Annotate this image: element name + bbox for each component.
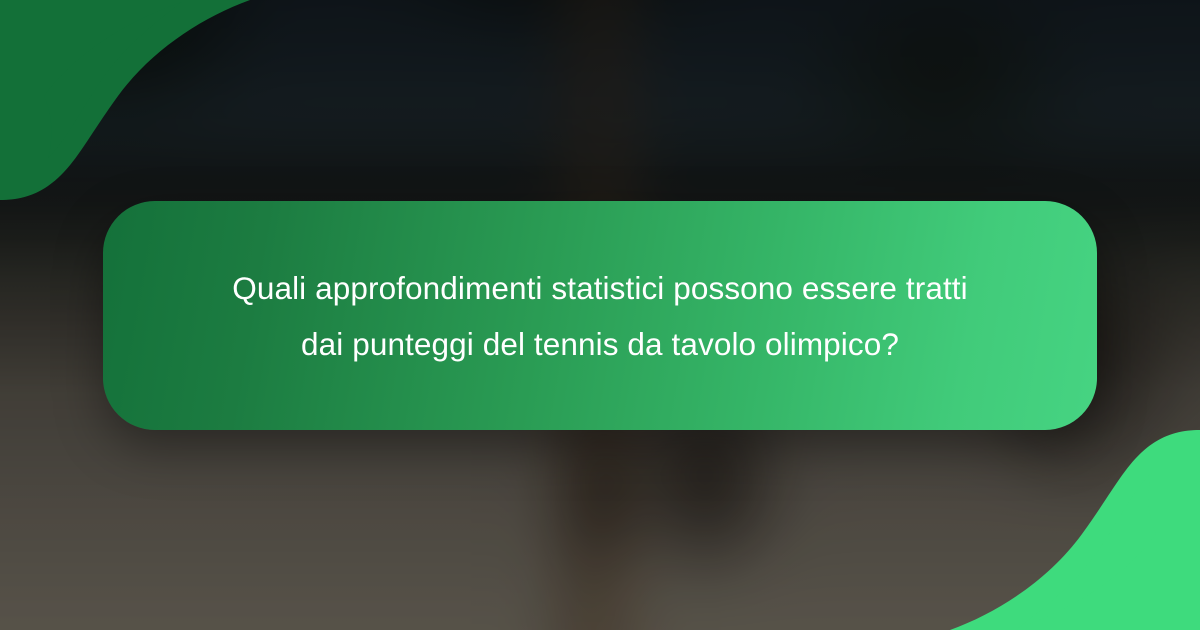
question-text: Quali approfondimenti statistici possono…: [220, 260, 980, 372]
og-image-canvas: Quali approfondimenti statistici possono…: [0, 0, 1200, 630]
question-card: Quali approfondimenti statistici possono…: [103, 201, 1097, 430]
